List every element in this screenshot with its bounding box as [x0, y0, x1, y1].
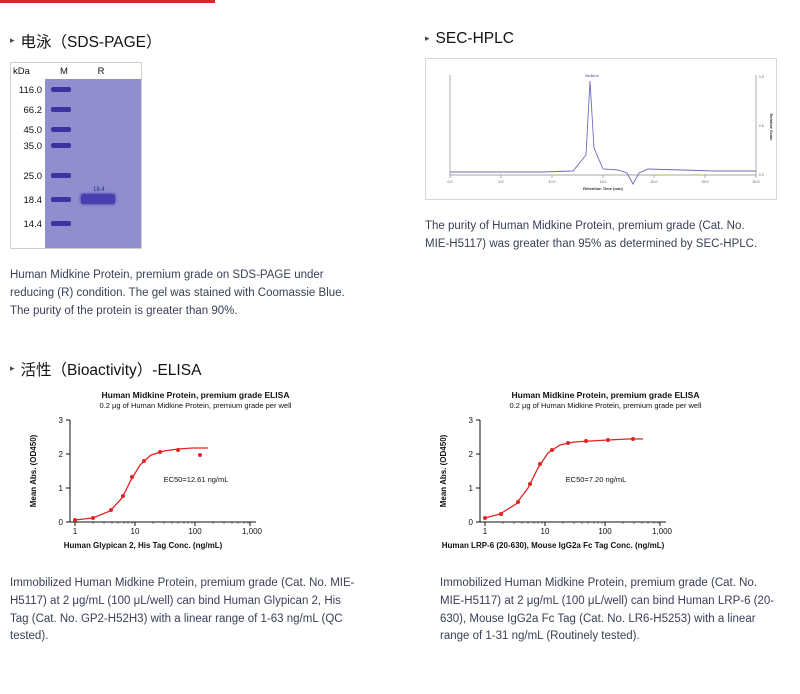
elisa-right-xtick: 1 [483, 527, 488, 536]
elisa-right-plot: 0 1 2 3 Mean Abs. (OD450) 1 10 [428, 410, 678, 540]
elisa-left-ytick: 0 [59, 518, 64, 527]
triangle-right-icon: ▸ [10, 36, 15, 45]
hplc-xtick: 5.0 [499, 180, 504, 184]
elisa-left-ec50-annotation: EC50=12.61 ng/mL [164, 475, 229, 484]
hplc-xtick: 10.0 [549, 180, 556, 184]
hplc-ytick: 0.0 [759, 173, 764, 177]
hplc-xtick: 15.0 [600, 180, 607, 184]
elisa-right-yaxis-label: Mean Abs. (OD450) [439, 435, 448, 508]
bioactivity-section-heading: ▸ 活性（Bioactivity）-ELISA [10, 358, 201, 380]
hplc-xtick: 20.0 [651, 180, 658, 184]
gel-band-marker [51, 197, 71, 202]
hplc-ytick: 1.0 [759, 75, 764, 79]
gel-marker-label: 14.4 [24, 219, 43, 230]
hplc-xaxis-label: Retention Time (min) [583, 186, 623, 191]
gel-marker-label: 18.4 [24, 195, 43, 206]
gel-band-marker [51, 87, 71, 92]
elisa-left-caption: Immobilized Human Midkine Protein, premi… [10, 575, 362, 646]
gel-band-marker [51, 143, 71, 148]
gel-marker-label: 25.0 [24, 171, 43, 182]
gel-band-size-label: 18.4 [93, 187, 105, 193]
elisa-left-chart: Human Midkine Protein, premium grade ELI… [8, 390, 383, 550]
gel-kda-label: kDa [11, 66, 47, 77]
sec-hplc-chart: 0.0 5.0 10.0 15.0 20.0 25.0 30.0 Retenti… [425, 58, 777, 200]
sds-page-gel-image: 116.0 66.2 45.0 35.0 25.0 18.4 14.4 18.4… [10, 62, 142, 249]
gel-marker-label: 35.0 [24, 141, 43, 152]
elisa-left-datapoints [73, 448, 202, 522]
elisa-right-xtick: 100 [598, 527, 612, 536]
gel-lane-header: kDa M R [11, 63, 141, 79]
elisa-right-xtick: 1,000 [652, 527, 673, 536]
sec-hplc-plot: 0.0 5.0 10.0 15.0 20.0 25.0 30.0 Retenti… [426, 59, 774, 197]
hplc-xtick: 0.0 [448, 180, 453, 184]
elisa-right-xaxis-label: Human LRP-6 (20-630), Mouse IgG2a Fc Tag… [428, 541, 678, 550]
sds-page-section: ▸ 电泳（SDS-PAGE） 116.0 66.2 45.0 35.0 25.0… [10, 30, 390, 320]
elisa-left-subtitle: 0.2 μg of Human Midkine Protein, premium… [8, 401, 383, 410]
elisa-right-ec50-annotation: EC50=7.20 ng/mL [566, 475, 627, 484]
gel-lane-m-label: M [47, 66, 81, 77]
elisa-left-fit-curve [75, 448, 208, 520]
sec-hplc-section: ▸ SEC-HPLC 0.0 5.0 10.0 15.0 [425, 30, 785, 254]
elisa-left-xaxis-label: Human Glypican 2, His Tag Conc. (ng/mL) [18, 541, 268, 550]
sds-page-title: 电泳（SDS-PAGE） [21, 30, 162, 52]
gel-band-marker [51, 127, 71, 132]
elisa-left-xtick: 100 [188, 527, 202, 536]
triangle-right-icon: ▸ [425, 34, 430, 43]
gel-marker-label: 66.2 [24, 105, 43, 116]
gel-lane-r-label: R [81, 66, 121, 77]
elisa-left-plot: 0 1 2 3 Mean Abs. (OD450) 1 [18, 410, 268, 540]
sec-hplc-heading: ▸ SEC-HPLC [425, 30, 785, 48]
bioactivity-title: 活性（Bioactivity）-ELISA [21, 358, 202, 380]
elisa-right-ytick: 3 [469, 416, 474, 425]
gel-band-marker [51, 107, 71, 112]
gel-marker-label: 116.0 [19, 85, 42, 96]
elisa-right-xtick: 10 [541, 527, 550, 536]
hplc-yaxis-label: Relative Scale [769, 114, 774, 142]
hplc-xtick: 30.0 [753, 180, 760, 184]
hplc-trace [450, 81, 756, 184]
hplc-peak-annotation: Midkine [585, 73, 600, 78]
gel-band-marker [51, 221, 71, 226]
triangle-right-icon: ▸ [10, 364, 15, 373]
elisa-left-ytick: 2 [59, 450, 64, 459]
gel-marker-label: 45.0 [24, 125, 43, 136]
sds-page-heading: ▸ 电泳（SDS-PAGE） [10, 30, 390, 52]
elisa-left-xtick: 10 [131, 527, 140, 536]
hplc-ytick: 0.5 [759, 124, 764, 128]
gel-band-marker [51, 173, 71, 178]
gel-lanes: 18.4 [45, 63, 141, 248]
elisa-right-title: Human Midkine Protein, premium grade ELI… [418, 390, 793, 401]
elisa-left-ytick: 3 [59, 416, 64, 425]
top-accent-bar [0, 0, 215, 3]
elisa-right-subtitle: 0.2 μg of Human Midkine Protein, premium… [418, 401, 793, 410]
elisa-left-xtick: 1 [73, 527, 78, 536]
elisa-right-caption: Immobilized Human Midkine Protein, premi… [440, 575, 780, 646]
elisa-right-chart: Human Midkine Protein, premium grade ELI… [418, 390, 793, 550]
gel-band-sample [81, 194, 115, 204]
hplc-xtick: 25.0 [702, 180, 709, 184]
sec-hplc-caption: The purity of Human Midkine Protein, pre… [425, 218, 765, 254]
elisa-left-xtick: 1,000 [242, 527, 263, 536]
elisa-right-ytick: 2 [469, 450, 474, 459]
elisa-right-ytick: 0 [469, 518, 474, 527]
elisa-left-yaxis-label: Mean Abs. (OD450) [29, 435, 38, 508]
elisa-right-ytick: 1 [469, 484, 474, 493]
sec-hplc-title: SEC-HPLC [436, 30, 514, 48]
gel-marker-labels: 116.0 66.2 45.0 35.0 25.0 18.4 14.4 [11, 63, 45, 248]
sds-page-caption: Human Midkine Protein, premium grade on … [10, 267, 355, 320]
elisa-left-ytick: 1 [59, 484, 64, 493]
elisa-left-title: Human Midkine Protein, premium grade ELI… [8, 390, 383, 401]
